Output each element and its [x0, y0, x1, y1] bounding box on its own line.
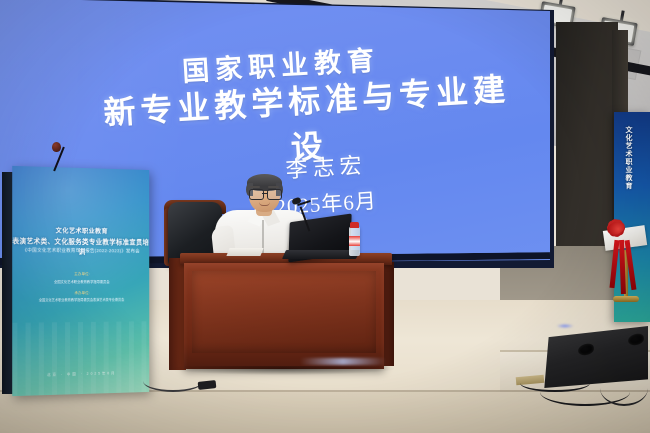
person-eyebrow-left [249, 186, 260, 188]
microphone-icon [52, 142, 61, 152]
desk-panel-inset [192, 271, 376, 353]
desk-right-side [384, 262, 394, 366]
banner-org-2: 全国文化艺术职业教育教学指导委员会表演艺术类专业委员会 [12, 298, 149, 304]
audio-cable-3 [600, 370, 648, 406]
banner-heading: 文化艺术职业教育 [12, 225, 149, 236]
vertical-banner-text: 文化艺术职业教育 [621, 126, 633, 190]
water-bottle-label [349, 236, 360, 246]
banner-org-label-1: 主办单位: [12, 272, 149, 277]
water-bottle-cap [350, 222, 359, 228]
lens-right [267, 189, 282, 200]
speaker-status-led [556, 324, 574, 328]
eyeglasses-icon [248, 189, 282, 198]
ribbon-stand-base [613, 296, 639, 302]
desk-floor-shadow [172, 366, 394, 375]
documents-on-desk [226, 248, 263, 256]
desk-front-panel [184, 263, 384, 369]
banner-org-label-2: 承办单位: [12, 291, 149, 296]
floor-cable-left [143, 370, 203, 392]
glasses-bridge [262, 193, 267, 194]
banner-skyline-graphic [12, 321, 149, 396]
person-eyebrow-right [268, 186, 279, 188]
roll-up-banner: 文化艺术职业教育 表演艺术类、文化服务类专业教学标准宣贯培训 《中国文化艺术职业… [12, 166, 149, 396]
lens-left [249, 189, 264, 200]
desk-under-light [300, 358, 386, 365]
light-mount-arm [620, 10, 625, 22]
banner-line-3: 《中国文化艺术职业教育年度报告(2022-2023)》发布会 [12, 247, 149, 254]
light-mount-arm [559, 0, 564, 7]
photo-scene: 国家职业教育 新专业教学标准与专业建设 李志宏 2025年6月 文化艺术职业教育… [0, 0, 650, 433]
banner-org-1: 全国文化艺术职业教育教学指导委员会 [12, 279, 149, 284]
